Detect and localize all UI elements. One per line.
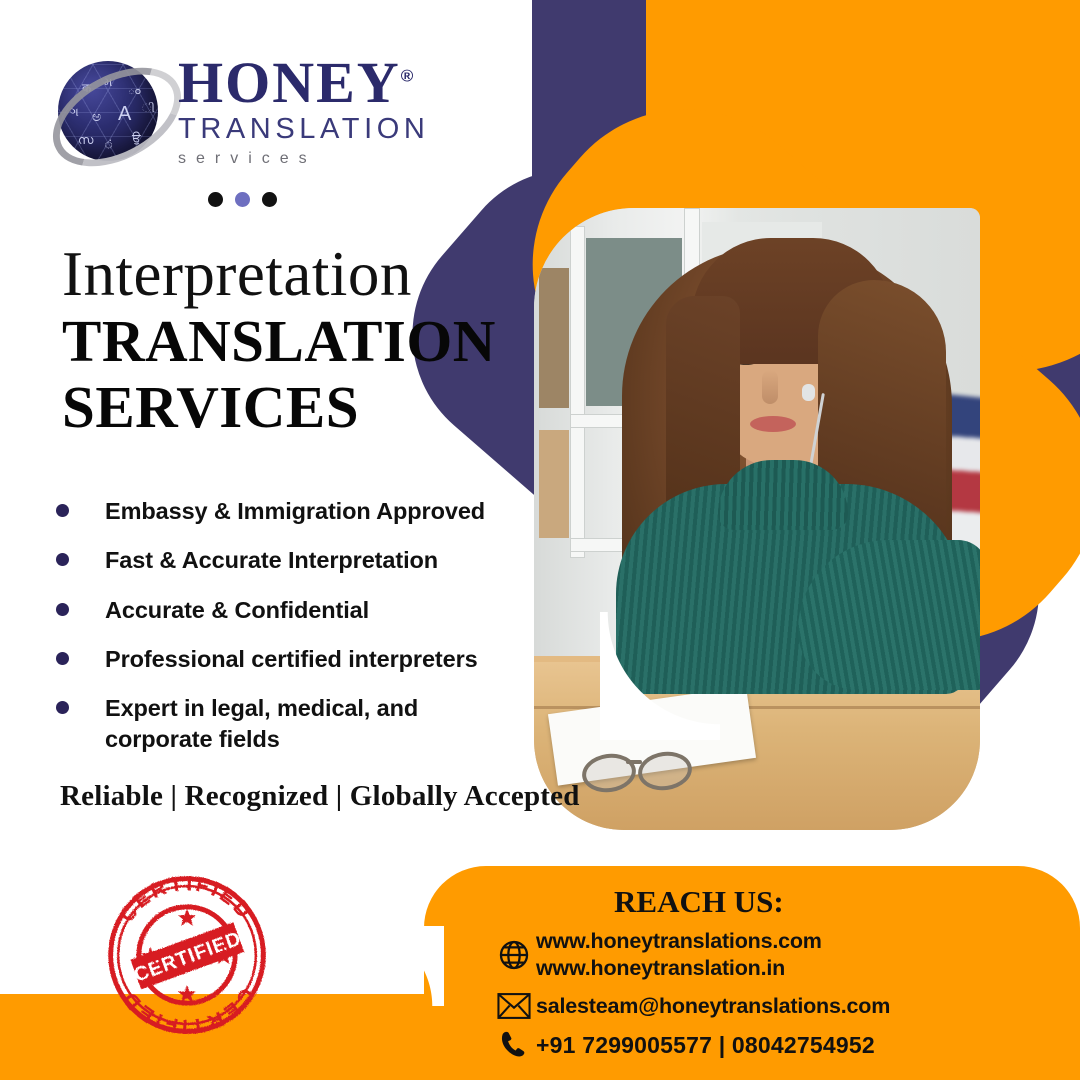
photo-corner-notch — [600, 612, 720, 740]
dot-black — [262, 192, 277, 207]
globe-icon — [492, 938, 536, 972]
bullet-dot-icon — [56, 504, 69, 517]
contact-details: www.honeytranslations.com www.honeytrans… — [492, 928, 1052, 1070]
list-item: Embassy & Immigration Approved — [56, 496, 526, 527]
headline-main: TRANSLATION SERVICES — [62, 308, 496, 440]
contact-heading: REACH US: — [614, 884, 784, 920]
headline-line-2: SERVICES — [62, 374, 496, 440]
contact-row-email[interactable]: salesteam@honeytranslations.com — [492, 992, 1052, 1020]
brand-wordmark: HONEY® TRANSLATION services — [178, 55, 429, 171]
brand-name-tag: services — [178, 147, 429, 171]
list-item-label: Expert in legal, medical, and corporate … — [105, 693, 445, 756]
certified-stamp-icon: CERTIFIED CERTIFIED CERTIFIED — [104, 872, 270, 1038]
feature-list: Embassy & Immigration Approved Fast & Ac… — [56, 496, 526, 774]
stamp-artwork: CERTIFIED CERTIFIED CERTIFIED — [111, 872, 264, 1038]
certified-stamp-svg: CERTIFIED CERTIFIED CERTIFIED — [104, 872, 270, 1038]
list-item-label: Accurate & Confidential — [105, 595, 369, 626]
list-item: Professional certified interpreters — [56, 644, 526, 675]
dot-black — [208, 192, 223, 207]
book-item — [539, 430, 569, 538]
email-address[interactable]: salesteam@honeytranslations.com — [536, 993, 890, 1020]
envelope-icon — [492, 992, 536, 1020]
brand-logo[interactable]: क મ ం ગ ಅ A ી സ ் ਉ HONEY® TRANSLATION s… — [52, 48, 472, 178]
bullet-dot-icon — [56, 603, 69, 616]
brand-name-main: HONEY® — [178, 55, 429, 111]
nose — [762, 370, 778, 404]
contact-row-phone[interactable]: +91 7299005577 | 08042754952 — [492, 1028, 1052, 1062]
list-item: Accurate & Confidential — [56, 595, 526, 626]
list-item-label: Embassy & Immigration Approved — [105, 496, 485, 527]
earbud — [802, 384, 815, 401]
eyeglasses — [582, 752, 700, 786]
phone-numbers[interactable]: +91 7299005577 | 08042754952 — [536, 1031, 875, 1060]
registered-mark: ® — [401, 67, 416, 86]
list-item-label: Professional certified interpreters — [105, 644, 478, 675]
interpreter-figure — [622, 210, 952, 680]
list-item-label: Fast & Accurate Interpretation — [105, 545, 438, 576]
phone-icon — [492, 1028, 536, 1062]
headline-script: Interpretation — [62, 238, 412, 311]
brand-name-sub: TRANSLATION — [178, 111, 429, 147]
list-item: Expert in legal, medical, and corporate … — [56, 693, 526, 756]
dot-separator — [208, 192, 277, 207]
glasses-bridge — [626, 760, 642, 764]
shelf-upright — [570, 226, 585, 558]
website-list: www.honeytranslations.com www.honeytrans… — [536, 928, 822, 982]
bullet-dot-icon — [56, 701, 69, 714]
book-item — [539, 268, 569, 408]
bullet-dot-icon — [56, 553, 69, 566]
website-primary[interactable]: www.honeytranslations.com — [536, 928, 822, 955]
list-item: Fast & Accurate Interpretation — [56, 545, 526, 576]
bullet-dot-icon — [56, 652, 69, 665]
lips — [750, 416, 796, 432]
poster-canvas: क મ ం ગ ಅ A ી സ ் ਉ HONEY® TRANSLATION s… — [0, 0, 1080, 1080]
band-concave-notch — [352, 926, 444, 1006]
dot-purple — [235, 192, 250, 207]
globe-languages-icon: क મ ం ગ ಅ A ી സ ் ਉ — [52, 57, 164, 169]
contact-row-website[interactable]: www.honeytranslations.com www.honeytrans… — [492, 928, 1052, 982]
headline-line-1: TRANSLATION — [62, 308, 496, 374]
website-secondary[interactable]: www.honeytranslation.in — [536, 955, 822, 982]
tagline: Reliable | Recognized | Globally Accepte… — [60, 780, 580, 813]
